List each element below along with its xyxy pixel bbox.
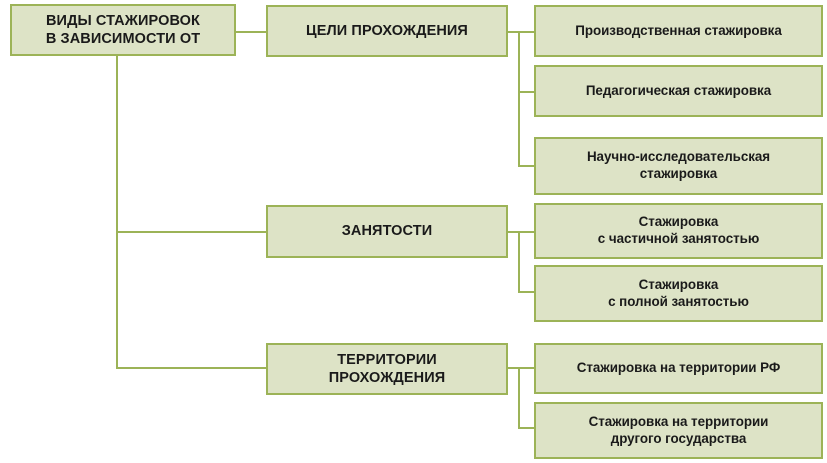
node-branch-3-child-1[interactable]: Стажировка на территории РФ bbox=[534, 343, 823, 394]
node-branch-1[interactable]: ЦЕЛИ ПРОХОЖДЕНИЯ bbox=[266, 5, 508, 57]
node-branch-3-child-2-label: Стажировка на территории другого государ… bbox=[589, 414, 769, 448]
diagram-canvas: ВИДЫ СТАЖИРОВОК В ЗАВИСИМОСТИ ОТ ЦЕЛИ ПР… bbox=[0, 0, 827, 463]
connector-branch-2-trunk bbox=[518, 231, 520, 293]
node-branch-2-child-2[interactable]: Стажировка с полной занятостью bbox=[534, 265, 823, 322]
node-branch-3-child-1-label: Стажировка на территории РФ bbox=[577, 360, 780, 377]
node-branch-2-child-2-label: Стажировка с полной занятостью bbox=[608, 277, 749, 311]
connector-branch-1-child-1 bbox=[518, 31, 534, 33]
node-branch-2-child-1-label: Стажировка с частичной занятостью bbox=[598, 214, 759, 248]
node-branch-3[interactable]: ТЕРРИТОРИИ ПРОХОЖДЕНИЯ bbox=[266, 343, 508, 395]
node-branch-3-label: ТЕРРИТОРИИ ПРОХОЖДЕНИЯ bbox=[329, 351, 446, 387]
connector-branch-2-child-1 bbox=[518, 231, 534, 233]
node-branch-1-child-3-label: Научно-исследовательская стажировка bbox=[587, 149, 770, 183]
connector-branch-2-child-2 bbox=[518, 291, 534, 293]
node-branch-2[interactable]: ЗАНЯТОСТИ bbox=[266, 205, 508, 258]
connector-root-trunk bbox=[116, 55, 118, 369]
node-branch-1-child-1[interactable]: Производственная стажировка bbox=[534, 5, 823, 57]
connector-branch-1-child-3 bbox=[518, 165, 534, 167]
connector-trunk-to-branch-3 bbox=[116, 367, 266, 369]
connector-branch-1-trunk bbox=[518, 31, 520, 167]
node-root-label: ВИДЫ СТАЖИРОВОК В ЗАВИСИМОСТИ ОТ bbox=[46, 12, 200, 48]
node-branch-2-label: ЗАНЯТОСТИ bbox=[342, 222, 433, 240]
node-branch-3-child-2[interactable]: Стажировка на территории другого государ… bbox=[534, 402, 823, 459]
connector-trunk-to-branch-2 bbox=[116, 231, 266, 233]
connector-branch-3-child-1 bbox=[518, 367, 534, 369]
node-branch-1-child-2-label: Педагогическая стажировка bbox=[586, 83, 771, 100]
node-branch-1-child-1-label: Производственная стажировка bbox=[575, 23, 782, 40]
connector-branch-1-child-2 bbox=[518, 91, 534, 93]
node-branch-1-label: ЦЕЛИ ПРОХОЖДЕНИЯ bbox=[306, 22, 468, 40]
connector-branch-3-child-2 bbox=[518, 427, 534, 429]
node-root[interactable]: ВИДЫ СТАЖИРОВОК В ЗАВИСИМОСТИ ОТ bbox=[10, 4, 236, 56]
node-branch-1-child-2[interactable]: Педагогическая стажировка bbox=[534, 65, 823, 117]
connector-branch-3-trunk bbox=[518, 367, 520, 429]
connector-root-to-branch-1 bbox=[236, 31, 266, 33]
node-branch-2-child-1[interactable]: Стажировка с частичной занятостью bbox=[534, 203, 823, 259]
node-branch-1-child-3[interactable]: Научно-исследовательская стажировка bbox=[534, 137, 823, 195]
